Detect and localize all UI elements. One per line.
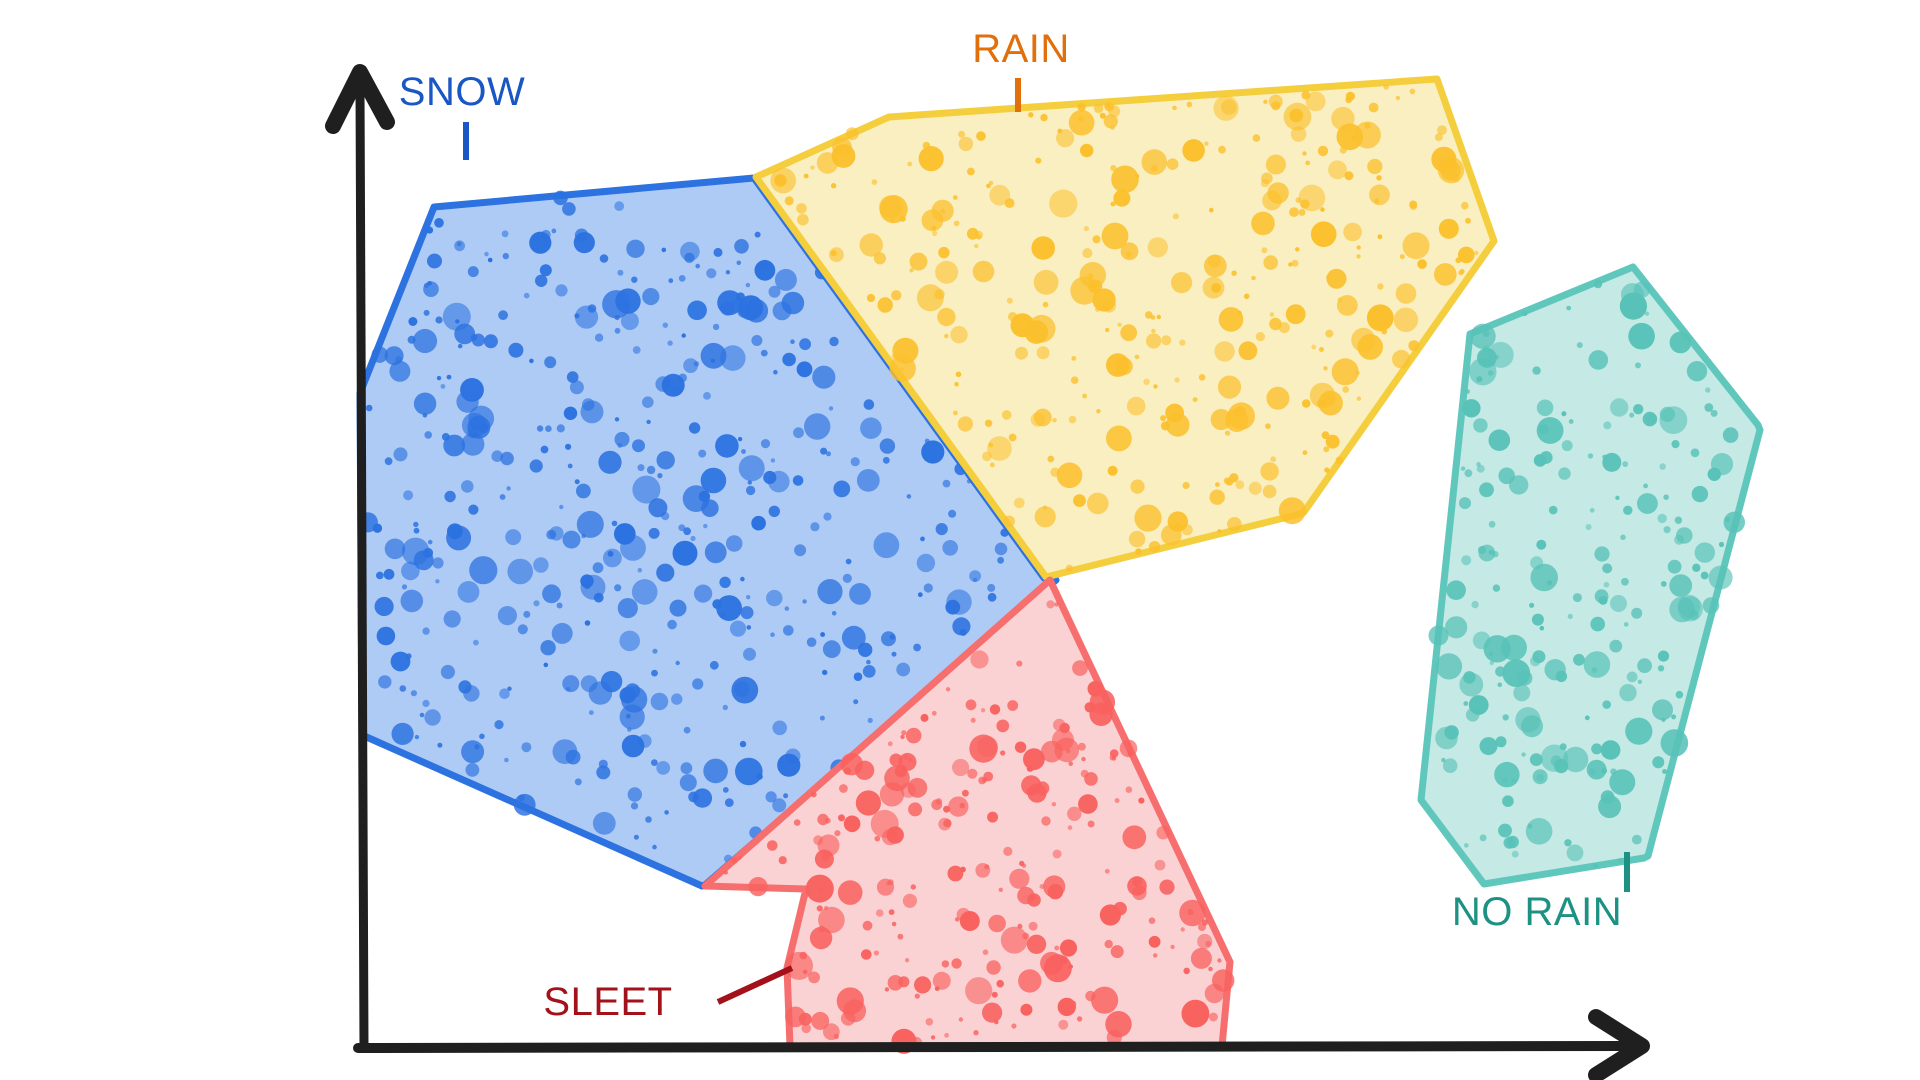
data-point: [1093, 235, 1101, 243]
data-point: [1060, 939, 1077, 956]
data-point: [1489, 521, 1496, 528]
data-point: [1532, 366, 1540, 374]
data-point: [942, 540, 958, 556]
data-point: [695, 264, 700, 269]
data-point: [1132, 880, 1138, 886]
data-point: [1503, 714, 1509, 720]
data-point: [918, 592, 923, 597]
data-point: [913, 644, 921, 652]
data-point: [681, 762, 693, 774]
data-point: [823, 513, 831, 521]
data-point: [1409, 201, 1417, 209]
data-point: [1080, 144, 1093, 157]
data-point: [617, 270, 623, 276]
data-point: [800, 952, 808, 960]
data-point: [414, 528, 420, 534]
data-point: [935, 261, 958, 284]
data-point: [1446, 580, 1466, 600]
data-point: [1369, 103, 1379, 113]
data-point: [1292, 260, 1299, 267]
data-point: [1378, 234, 1383, 239]
data-point: [664, 810, 669, 815]
data-point: [423, 413, 428, 418]
data-point: [1175, 377, 1180, 382]
data-point: [648, 498, 667, 517]
data-point: [689, 422, 700, 433]
data-point: [794, 544, 806, 556]
data-point: [958, 131, 965, 138]
data-point: [906, 728, 922, 744]
data-point: [1256, 332, 1265, 341]
data-point: [642, 396, 654, 408]
data-point: [731, 677, 758, 704]
data-point: [838, 880, 863, 905]
data-point: [468, 406, 494, 432]
data-point: [1175, 523, 1181, 529]
data-point: [1498, 468, 1515, 485]
data-point: [914, 976, 931, 993]
data-point: [1193, 397, 1198, 402]
data-point: [804, 174, 809, 179]
data-point: [846, 559, 852, 565]
data-point: [1529, 603, 1534, 608]
data-point: [533, 600, 539, 606]
data-point: [767, 840, 778, 851]
data-point: [849, 583, 871, 605]
data-point: [901, 730, 906, 735]
data-point: [948, 796, 968, 816]
data-point: [634, 835, 639, 840]
data-point: [1323, 446, 1329, 452]
data-point: [959, 1017, 963, 1021]
data-point: [706, 268, 716, 278]
data-point: [385, 539, 406, 560]
data-point: [1289, 207, 1299, 217]
data-point: [662, 248, 667, 253]
data-point: [741, 449, 746, 454]
data-point: [1534, 454, 1547, 467]
data-point: [1003, 516, 1015, 528]
data-point: [1340, 147, 1347, 154]
data-point: [1111, 945, 1124, 958]
data-point: [826, 451, 831, 456]
data-point: [1078, 116, 1084, 122]
data-point: [680, 242, 700, 262]
data-point: [559, 505, 563, 509]
data-point: [1602, 700, 1611, 709]
data-point: [854, 672, 863, 681]
cluster-label-snow: SNOW: [399, 70, 525, 114]
data-point: [498, 310, 508, 320]
data-point: [1078, 794, 1098, 814]
data-point: [506, 486, 510, 490]
data-point: [990, 463, 995, 468]
data-point: [926, 1018, 934, 1026]
data-point: [1305, 161, 1310, 166]
data-point: [1183, 968, 1190, 975]
data-point: [726, 535, 743, 552]
data-point: [1183, 482, 1190, 489]
data-point: [1461, 555, 1471, 565]
data-point: [1070, 277, 1098, 305]
data-point: [437, 743, 442, 748]
data-point: [1588, 453, 1593, 458]
data-point: [1637, 658, 1652, 673]
data-point: [838, 814, 845, 821]
data-point: [888, 741, 893, 746]
data-point: [684, 727, 691, 734]
data-point: [1204, 255, 1227, 278]
data-point: [694, 585, 712, 603]
data-point: [1214, 341, 1234, 361]
data-point: [366, 405, 373, 412]
data-point: [461, 433, 484, 456]
data-point: [896, 663, 910, 677]
data-point: [581, 575, 606, 600]
data-point: [1286, 304, 1306, 324]
data-point: [564, 407, 577, 420]
data-point: [502, 230, 509, 237]
data-point: [1106, 426, 1132, 452]
data-point: [1015, 742, 1026, 753]
data-point: [823, 640, 841, 658]
data-point: [982, 778, 987, 783]
data-point: [1498, 824, 1512, 838]
data-point: [1383, 84, 1389, 90]
data-point: [1135, 174, 1140, 179]
data-point: [829, 337, 838, 346]
data-point: [507, 687, 511, 691]
data-point: [793, 475, 804, 486]
data-point: [1589, 350, 1609, 370]
data-point: [1210, 490, 1225, 505]
data-point: [680, 774, 697, 791]
data-point: [736, 292, 745, 301]
data-point: [1478, 546, 1486, 554]
data-point: [1060, 956, 1068, 964]
data-point: [755, 260, 776, 281]
data-point: [1251, 212, 1275, 236]
data-point: [883, 457, 890, 464]
data-point: [761, 439, 770, 448]
data-point: [1130, 480, 1144, 494]
data-point: [1122, 825, 1146, 849]
data-point: [1643, 484, 1648, 489]
data-point: [996, 720, 1009, 733]
data-point: [793, 427, 804, 438]
data-point: [710, 661, 719, 670]
data-point: [423, 281, 439, 297]
data-point: [544, 356, 556, 368]
data-point: [535, 275, 547, 287]
data-point: [861, 949, 872, 960]
data-point: [1530, 564, 1558, 592]
data-point: [1149, 936, 1161, 948]
data-point: [441, 665, 455, 679]
data-point: [937, 308, 955, 326]
data-point: [1072, 660, 1088, 676]
data-point: [1634, 282, 1650, 298]
data-point: [1396, 96, 1400, 100]
data-point: [1263, 100, 1267, 104]
data-point: [810, 522, 819, 531]
data-point: [921, 714, 929, 722]
data-point: [420, 713, 425, 718]
data-point: [1536, 540, 1546, 550]
data-point: [996, 980, 1004, 988]
data-point: [442, 433, 450, 441]
data-point: [785, 606, 790, 611]
data-point: [1469, 358, 1496, 385]
data-point: [1225, 430, 1230, 435]
data-point: [1724, 512, 1745, 533]
data-point: [1229, 473, 1238, 482]
data-point: [1417, 259, 1427, 269]
data-point: [1204, 142, 1208, 146]
data-point: [1236, 480, 1245, 489]
data-point: [811, 1012, 829, 1030]
data-point: [1029, 922, 1038, 931]
data-point: [725, 798, 734, 807]
data-point: [1027, 935, 1046, 954]
data-point: [1338, 297, 1343, 302]
data-point: [612, 521, 618, 527]
data-point: [1134, 504, 1161, 531]
data-point: [1458, 271, 1463, 276]
data-point: [1586, 524, 1592, 530]
data-point: [839, 784, 848, 793]
data-point: [1403, 232, 1430, 259]
data-point: [770, 632, 775, 637]
data-point: [1009, 869, 1029, 889]
data-point: [1249, 482, 1262, 495]
data-point: [683, 527, 691, 535]
data-point: [986, 184, 991, 189]
data-point: [1709, 566, 1733, 590]
data-point: [593, 812, 616, 835]
data-point: [638, 734, 652, 748]
data-point: [1725, 517, 1730, 522]
data-point: [603, 549, 622, 568]
data-point: [435, 579, 439, 583]
data-point: [802, 599, 806, 603]
data-point: [1160, 415, 1166, 421]
data-point: [1071, 356, 1076, 361]
data-point: [1037, 346, 1050, 359]
data-point: [703, 524, 707, 528]
data-point: [415, 735, 419, 739]
data-point: [1568, 614, 1573, 619]
data-point: [422, 700, 429, 707]
data-point: [668, 278, 673, 283]
data-point: [473, 640, 479, 646]
data-point: [1179, 900, 1205, 926]
data-point: [627, 727, 632, 732]
data-point: [810, 927, 832, 949]
data-point: [657, 473, 662, 478]
data-point: [987, 584, 995, 592]
data-point: [892, 338, 918, 364]
data-point: [1620, 535, 1626, 541]
data-point: [1624, 622, 1629, 627]
data-point: [920, 537, 925, 542]
data-point: [1022, 933, 1029, 940]
data-point: [951, 958, 961, 968]
data-point: [1435, 727, 1458, 750]
data-point: [855, 761, 874, 780]
data-point: [373, 524, 382, 533]
data-point: [1087, 493, 1109, 515]
data-point: [1126, 786, 1133, 793]
data-point: [872, 179, 878, 185]
data-point: [932, 711, 937, 716]
data-point: [1121, 242, 1139, 260]
data-point: [1110, 125, 1115, 130]
data-point: [973, 578, 977, 582]
data-point: [1400, 254, 1405, 259]
data-point: [553, 191, 568, 206]
data-point: [615, 288, 640, 313]
data-point: [1540, 626, 1545, 631]
data-point: [1260, 462, 1278, 480]
data-point: [987, 812, 998, 823]
data-point: [577, 511, 604, 538]
data-point: [888, 975, 904, 991]
data-point: [770, 168, 796, 194]
data-point: [874, 950, 879, 955]
data-point: [1691, 448, 1700, 457]
data-point: [1336, 457, 1344, 465]
data-point: [960, 629, 967, 636]
data-point: [905, 958, 909, 962]
data-point: [1157, 315, 1161, 319]
data-point: [645, 816, 652, 823]
data-point: [424, 431, 432, 439]
data-point: [863, 665, 876, 678]
data-point: [1443, 758, 1458, 773]
data-point: [969, 735, 997, 763]
data-point: [907, 494, 912, 499]
data-point: [965, 977, 992, 1004]
data-point: [1590, 508, 1595, 513]
data-point: [484, 334, 498, 348]
data-point: [488, 258, 493, 263]
data-point: [437, 376, 441, 380]
data-point: [797, 361, 813, 377]
data-point: [692, 678, 703, 689]
data-point: [638, 568, 643, 573]
data-point: [734, 239, 749, 254]
data-point: [1151, 315, 1156, 320]
data-point: [1711, 410, 1718, 417]
data-point: [705, 541, 727, 563]
data-point: [1199, 374, 1206, 381]
data-point: [1043, 505, 1047, 509]
data-point: [990, 704, 1000, 714]
data-point: [1129, 531, 1145, 547]
data-point: [813, 835, 823, 845]
data-point: [1054, 946, 1059, 951]
data-point: [632, 579, 658, 605]
data-point: [1077, 1016, 1082, 1021]
data-point: [730, 621, 746, 637]
data-point: [1687, 361, 1707, 381]
data-point: [1723, 427, 1739, 443]
data-point: [846, 127, 859, 140]
data-point: [904, 754, 909, 759]
cluster-no-rain[interactable]: [1421, 267, 1760, 884]
data-point: [1026, 787, 1035, 796]
data-point: [1135, 355, 1140, 360]
data-point: [1053, 719, 1065, 731]
data-point: [751, 335, 762, 346]
data-point: [954, 382, 959, 387]
data-point: [1035, 158, 1041, 164]
data-point: [1003, 847, 1012, 856]
data-point: [1545, 659, 1566, 680]
data-point: [885, 987, 889, 991]
data-point: [530, 459, 543, 472]
data-point: [593, 562, 604, 573]
data-point: [540, 264, 552, 276]
data-point: [402, 584, 407, 589]
data-point: [1302, 399, 1311, 408]
data-point: [880, 782, 904, 806]
data-point: [719, 577, 730, 588]
data-point: [944, 1033, 949, 1038]
data-point: [401, 562, 420, 581]
data-point: [1014, 498, 1025, 509]
data-point: [739, 455, 765, 481]
data-point: [974, 244, 978, 248]
data-point: [484, 252, 489, 257]
data-point: [1489, 429, 1511, 451]
data-point: [999, 888, 1003, 892]
data-point: [775, 269, 797, 291]
data-point: [997, 557, 1004, 564]
data-point: [1153, 384, 1157, 388]
data-point: [785, 196, 794, 205]
data-point: [667, 340, 672, 345]
data-point: [1161, 335, 1171, 345]
data-point: [794, 819, 801, 826]
data-point: [568, 464, 573, 469]
data-point: [461, 740, 484, 763]
data-point: [1590, 617, 1605, 632]
data-point: [988, 915, 1006, 933]
data-point: [843, 574, 852, 583]
data-point: [892, 922, 897, 927]
data-point: [1342, 386, 1349, 393]
data-point: [1429, 626, 1449, 646]
data-point: [1434, 263, 1457, 286]
data-point: [1466, 708, 1480, 722]
data-point: [1512, 851, 1519, 858]
data-point: [376, 572, 384, 580]
data-point: [1270, 456, 1276, 462]
data-point: [973, 1030, 978, 1035]
data-point: [1049, 190, 1077, 218]
data-point: [868, 718, 873, 723]
data-point: [1671, 714, 1676, 719]
data-point: [565, 444, 571, 450]
data-point: [1181, 927, 1185, 931]
y-axis-line: [360, 90, 364, 1048]
data-point: [1067, 807, 1081, 821]
data-point: [1367, 159, 1382, 174]
data-point: [1480, 737, 1498, 755]
data-point: [1609, 640, 1622, 653]
